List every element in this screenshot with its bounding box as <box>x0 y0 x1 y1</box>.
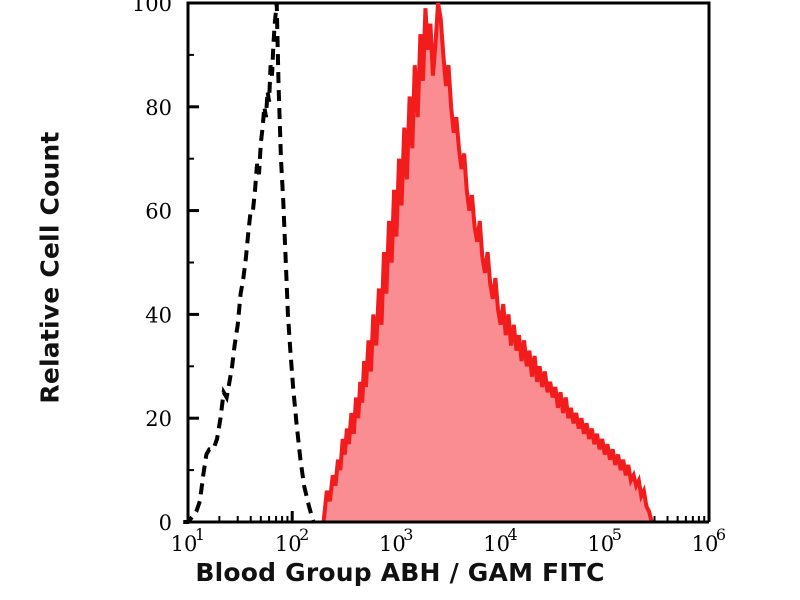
histogram-plot: 101102103104105106020406080100 <box>0 0 800 600</box>
y-tick-label: 60 <box>145 200 172 224</box>
x-tick-label-mantissa: 10 <box>171 532 198 556</box>
y-axis-title: Relative Cell Count <box>36 118 65 418</box>
x-tick-label-exponent: 5 <box>612 525 622 544</box>
x-tick-label-mantissa: 10 <box>275 532 302 556</box>
x-tick-label-exponent: 4 <box>508 525 518 544</box>
x-tick-label: 103 <box>379 525 413 556</box>
y-tick-label: 100 <box>132 0 172 16</box>
y-tick-label: 80 <box>145 96 172 120</box>
flow-cytometry-figure: 101102103104105106020406080100 Relative … <box>0 0 800 600</box>
x-tick-label-exponent: 6 <box>716 525 726 544</box>
x-tick-label-exponent: 1 <box>195 525 205 544</box>
x-tick-label: 105 <box>587 525 621 556</box>
y-tick-label: 20 <box>145 407 172 431</box>
x-tick-label: 104 <box>483 525 517 556</box>
x-tick-label-mantissa: 10 <box>379 532 406 556</box>
x-tick-label-exponent: 3 <box>403 525 413 544</box>
x-tick-label: 102 <box>275 525 309 556</box>
series-line-control <box>183 3 313 522</box>
x-tick-label-mantissa: 10 <box>483 532 510 556</box>
x-tick-label-mantissa: 10 <box>587 532 614 556</box>
x-axis-title: Blood Group ABH / GAM FITC <box>0 558 800 587</box>
x-tick-label: 106 <box>692 525 726 556</box>
x-tick-label-mantissa: 10 <box>692 532 719 556</box>
x-tick-label: 101 <box>171 525 205 556</box>
y-tick-label: 40 <box>145 303 172 327</box>
x-tick-label-exponent: 2 <box>299 525 309 544</box>
y-tick-label: 0 <box>159 511 172 535</box>
